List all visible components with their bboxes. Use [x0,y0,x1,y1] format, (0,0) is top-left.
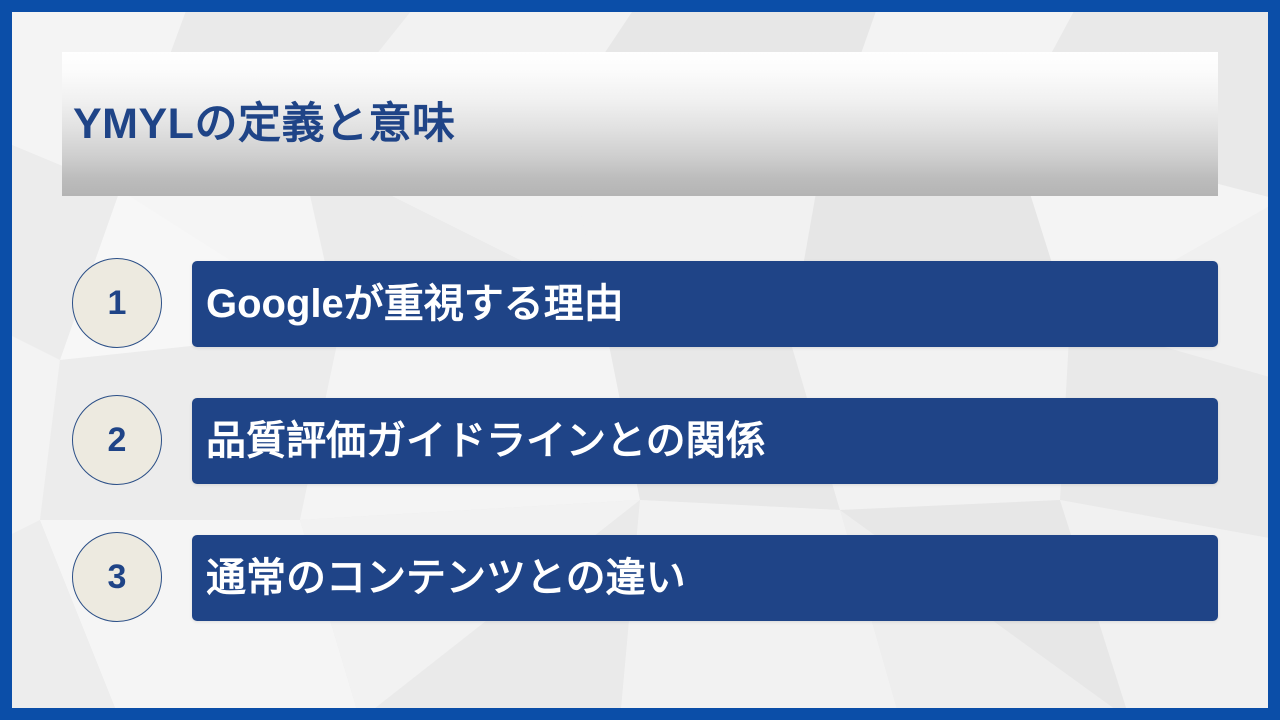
row-bar-label: Googleが重視する理由 [206,284,624,324]
row-number-badge: 2 [72,395,162,485]
slide-title-bar: YMYLの定義と意味 [62,52,1218,196]
page-title: YMYLの定義と意味 [73,103,455,146]
row-number-label: 1 [108,286,127,320]
row-number-badge: 1 [72,258,162,348]
row-bar-label: 通常のコンテンツとの違い [206,558,686,598]
list-item[interactable]: 3 通常のコンテンツとの違い [62,532,1218,622]
row-bar[interactable]: 通常のコンテンツとの違い [192,535,1218,621]
row-bar-label: 品質評価ガイドラインとの関係 [206,421,766,461]
row-bar[interactable]: Googleが重視する理由 [192,261,1218,347]
list-item[interactable]: 1 Googleが重視する理由 [62,258,1218,348]
row-number-label: 2 [108,423,127,457]
row-bar[interactable]: 品質評価ガイドラインとの関係 [192,398,1218,484]
row-number-badge: 3 [72,532,162,622]
slide-canvas: YMYLの定義と意味 1 Googleが重視する理由 2 品質評価ガイドラインと… [0,0,1280,720]
row-number-label: 3 [108,560,127,594]
list-item[interactable]: 2 品質評価ガイドラインとの関係 [62,395,1218,485]
